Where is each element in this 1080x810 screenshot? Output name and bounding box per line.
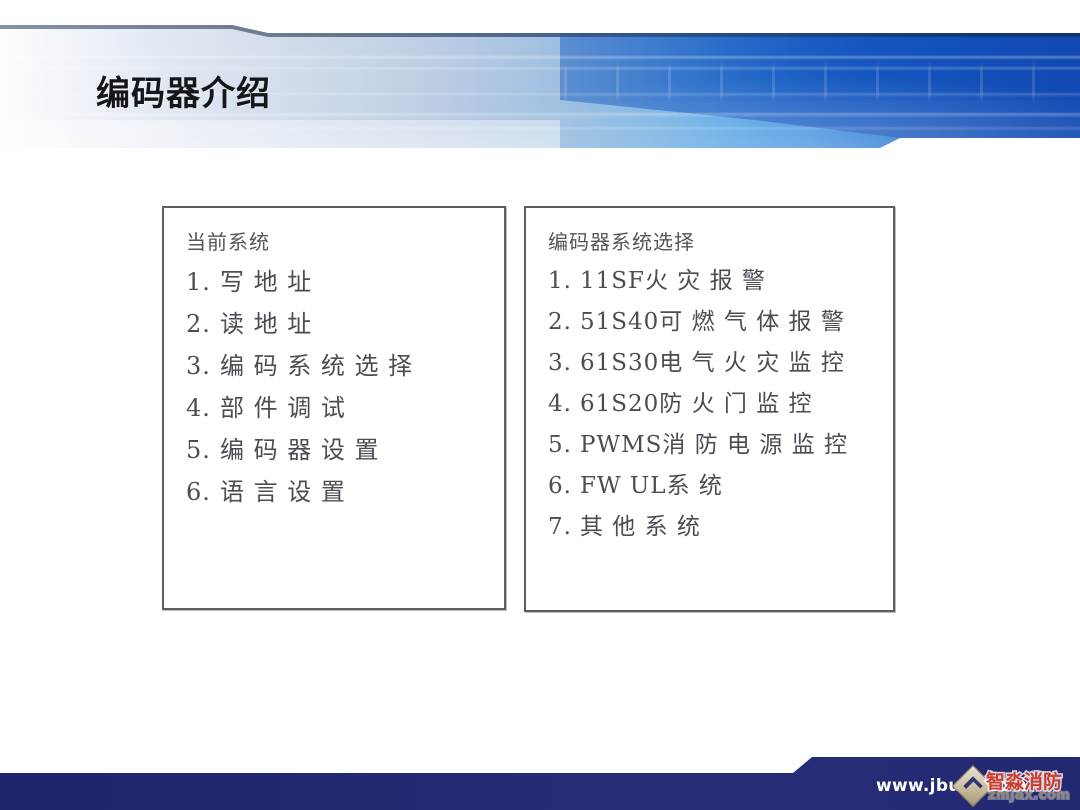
list-item[interactable]: 4.部 件 调 试 [186,387,494,429]
list-item[interactable]: 5.编 码 器 设 置 [186,429,494,471]
list-item-index: 6. [186,471,220,513]
list-item[interactable]: 6.语 言 设 置 [186,471,494,513]
list-item-index: 3. [548,343,580,384]
list-item-index: 1. [186,261,220,303]
list-item[interactable]: 3.编 码 系 统 选 择 [186,345,494,387]
encoder-system-select-box: 编码器系统选择 1.11SF火 灾 报 警 2.51S40可 燃 气 体 报 警… [524,206,895,612]
list-item[interactable]: 2.51S40可 燃 气 体 报 警 [548,302,883,343]
list-item[interactable]: 7.其 他 系 统 [548,507,883,548]
list-item-index: 5. [548,425,580,466]
current-system-menu-list: 1.写 地 址 2.读 地 址 3.编 码 系 统 选 择 4.部 件 调 试 … [186,261,494,513]
list-item-index: 5. [186,429,220,471]
list-item-label: 部 件 调 试 [220,394,346,422]
list-item-label: 61S30电 气 火 灾 监 控 [580,350,845,376]
list-item-index: 7. [548,507,580,548]
list-item-index: 2. [186,303,220,345]
list-item[interactable]: 5.PWMS消 防 电 源 监 控 [548,425,883,466]
list-item-label: 写 地 址 [220,268,312,296]
watermark-domain-text: zmjax.com [988,788,1070,803]
list-item-index: 4. [186,387,220,429]
list-item-label: 编 码 系 统 选 择 [220,352,413,380]
list-item[interactable]: 4.61S20防 火 门 监 控 [548,384,883,425]
list-item-index: 6. [548,466,580,507]
list-item-label: 其 他 系 统 [580,514,701,540]
watermark-logo: 智淼消防 zmjax.com [958,766,1076,806]
encoder-system-menu-list: 1.11SF火 灾 报 警 2.51S40可 燃 气 体 报 警 3.61S30… [548,261,883,548]
list-item-index: 4. [548,384,580,425]
list-item[interactable]: 1.11SF火 灾 报 警 [548,261,883,302]
encoder-system-select-heading: 编码器系统选择 [548,226,883,255]
list-item-label: PWMS消 防 电 源 监 控 [580,432,848,458]
list-item-index: 2. [548,302,580,343]
list-item-label: 读 地 址 [220,310,312,338]
encoder-system-select-box-content: 编码器系统选择 1.11SF火 灾 报 警 2.51S40可 燃 气 体 报 警… [526,208,893,548]
current-system-heading: 当前系统 [186,226,494,255]
list-item-label: FW UL系 统 [580,473,723,499]
list-item-label: 61S20防 火 门 监 控 [580,391,813,417]
current-system-box: 当前系统 1.写 地 址 2.读 地 址 3.编 码 系 统 选 择 4.部 件… [162,206,506,610]
list-item-label: 11SF火 灾 报 警 [580,268,766,294]
list-item-index: 1. [548,261,580,302]
page-title: 编码器介绍 [96,66,271,115]
list-item-label: 51S40可 燃 气 体 报 警 [580,309,845,335]
list-item[interactable]: 3.61S30电 气 火 灾 监 控 [548,343,883,384]
list-item-index: 3. [186,345,220,387]
current-system-box-content: 当前系统 1.写 地 址 2.读 地 址 3.编 码 系 统 选 择 4.部 件… [164,208,504,513]
list-item[interactable]: 1.写 地 址 [186,261,494,303]
list-item-label: 编 码 器 设 置 [220,436,380,464]
list-item[interactable]: 2.读 地 址 [186,303,494,345]
list-item-label: 语 言 设 置 [220,478,346,506]
list-item[interactable]: 6.FW UL系 统 [548,466,883,507]
